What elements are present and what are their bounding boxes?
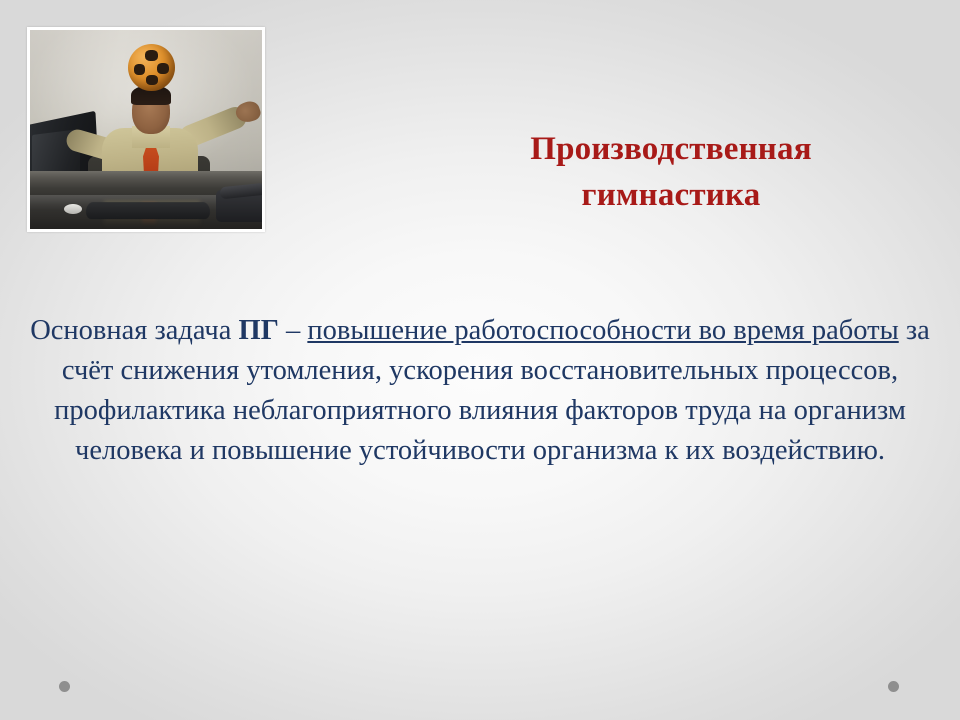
slide-title: Производственная гимнастика — [404, 126, 938, 218]
ball-patch — [146, 75, 158, 85]
slide-title-line-2: гимнастика — [404, 172, 938, 218]
body-abbreviation: ПГ — [239, 315, 279, 346]
ball-patch — [157, 63, 169, 74]
office-worker-balancing-ball-photo — [27, 27, 265, 232]
mouse-icon — [64, 204, 82, 214]
decorative-dot-right — [888, 681, 899, 692]
soccer-ball-icon — [128, 44, 175, 91]
ball-patch — [145, 50, 158, 61]
slide-body-text: Основная задача ПГ – повышение работоспо… — [30, 311, 930, 471]
body-lead: Основная задача — [30, 315, 238, 346]
slide: Производственная гимнастика Основная зад… — [0, 0, 960, 720]
decorative-dot-left — [59, 681, 70, 692]
keyboard-icon — [85, 202, 211, 219]
slide-title-line-1: Производственная — [404, 126, 938, 172]
ball-patch — [134, 64, 145, 75]
body-underlined-phrase: повышение работоспособности во время раб… — [307, 315, 898, 346]
body-dash: – — [279, 315, 308, 346]
photo-canvas — [30, 30, 262, 229]
